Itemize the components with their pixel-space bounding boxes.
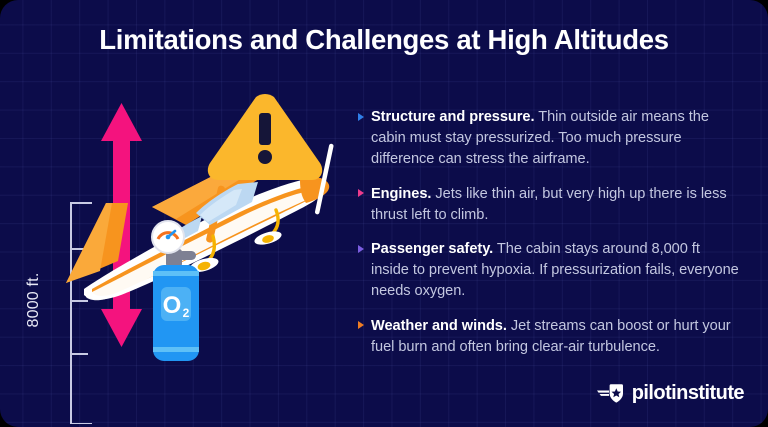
logo-text: pilotinstitute — [632, 382, 744, 405]
bullet-marker-icon — [358, 113, 364, 121]
bullet-marker-icon — [358, 245, 364, 253]
bullet-list: Structure and pressure. Thin outside air… — [358, 107, 740, 358]
bullet-marker-icon — [358, 189, 364, 197]
bullet-item: Weather and winds. Jet streams can boost… — [358, 316, 740, 358]
infographic-card: Limitations and Challenges at High Altit… — [0, 0, 768, 427]
illustration-artwork: O 2 — [0, 85, 350, 365]
warning-triangle-icon — [208, 94, 322, 180]
svg-text:2: 2 — [183, 306, 190, 320]
page-title: Limitations and Challenges at High Altit… — [0, 24, 768, 56]
bullet-item: Engines. Jets like thin air, but very hi… — [358, 184, 740, 226]
bullet-item: Passenger safety. The cabin stays around… — [358, 239, 740, 303]
bullet-lead: Structure and pressure. — [371, 109, 535, 125]
altitude-illustration: 8000 ft. — [0, 85, 350, 365]
bullet-marker-icon — [358, 321, 364, 329]
winged-shield-star-icon — [597, 383, 625, 404]
bullet-lead: Passenger safety. — [371, 241, 493, 257]
scale-tick-bottom — [70, 423, 92, 425]
brand-logo[interactable]: pilotinstitute — [597, 382, 744, 405]
bullet-lead: Weather and winds. — [371, 318, 507, 334]
svg-text:O: O — [163, 292, 182, 319]
bullet-lead: Engines. — [371, 186, 431, 202]
bullet-item: Structure and pressure. Thin outside air… — [358, 107, 740, 171]
